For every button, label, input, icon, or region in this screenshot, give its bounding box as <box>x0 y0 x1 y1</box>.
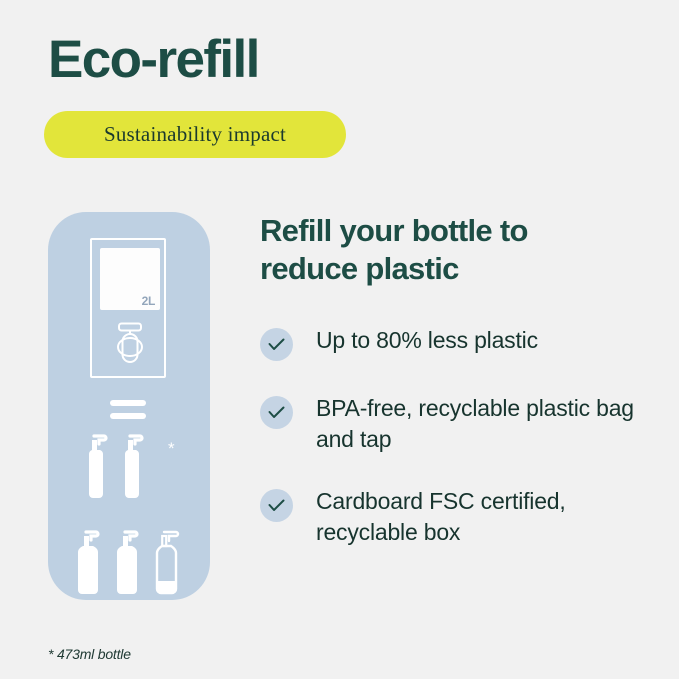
pump-bottle-outline-icon <box>150 530 183 596</box>
page-title: Eco-refill <box>48 32 259 88</box>
equals-bar-bottom <box>110 413 146 419</box>
check-icon <box>260 489 293 522</box>
list-item: BPA-free, recyclable plastic bag and tap <box>260 393 660 454</box>
status-badge-label: Sustainability impact <box>104 122 286 147</box>
equals-bar-top <box>110 400 146 406</box>
pump-bottle-icon <box>111 530 144 596</box>
refill-box-icon: 2L <box>90 238 166 378</box>
pump-bottle-icon <box>72 530 105 596</box>
feature-text: Up to 80% less plastic <box>316 325 538 356</box>
equals-sign-icon <box>110 400 146 420</box>
status-badge: Sustainability impact <box>44 111 346 158</box>
bottle-row-lower <box>72 530 183 596</box>
pump-bottle-icon <box>81 434 111 500</box>
refill-box-label-area: 2L <box>100 248 160 310</box>
feature-text: BPA-free, recyclable plastic bag and tap <box>316 393 646 454</box>
feature-text: Cardboard FSC certified, recyclable box <box>316 486 646 547</box>
check-icon <box>260 328 293 361</box>
footnote: * 473ml bottle <box>48 646 131 662</box>
footnote-asterisk-marker: * <box>168 440 175 457</box>
refill-box-volume-label: 2L <box>142 294 155 308</box>
section-heading: Refill your bottle to reduce plastic <box>260 212 600 288</box>
bottle-row-upper <box>81 434 147 500</box>
pump-bottle-icon <box>117 434 147 500</box>
feature-list: Up to 80% less plastic BPA-free, recycla… <box>260 325 660 547</box>
list-item: Cardboard FSC certified, recyclable box <box>260 486 660 547</box>
list-item: Up to 80% less plastic <box>260 325 660 361</box>
tap-spout-icon <box>114 322 146 364</box>
main-content: Refill your bottle to reduce plastic Up … <box>260 212 660 580</box>
check-icon <box>260 396 293 429</box>
illustration-panel: 2L * <box>48 212 210 600</box>
